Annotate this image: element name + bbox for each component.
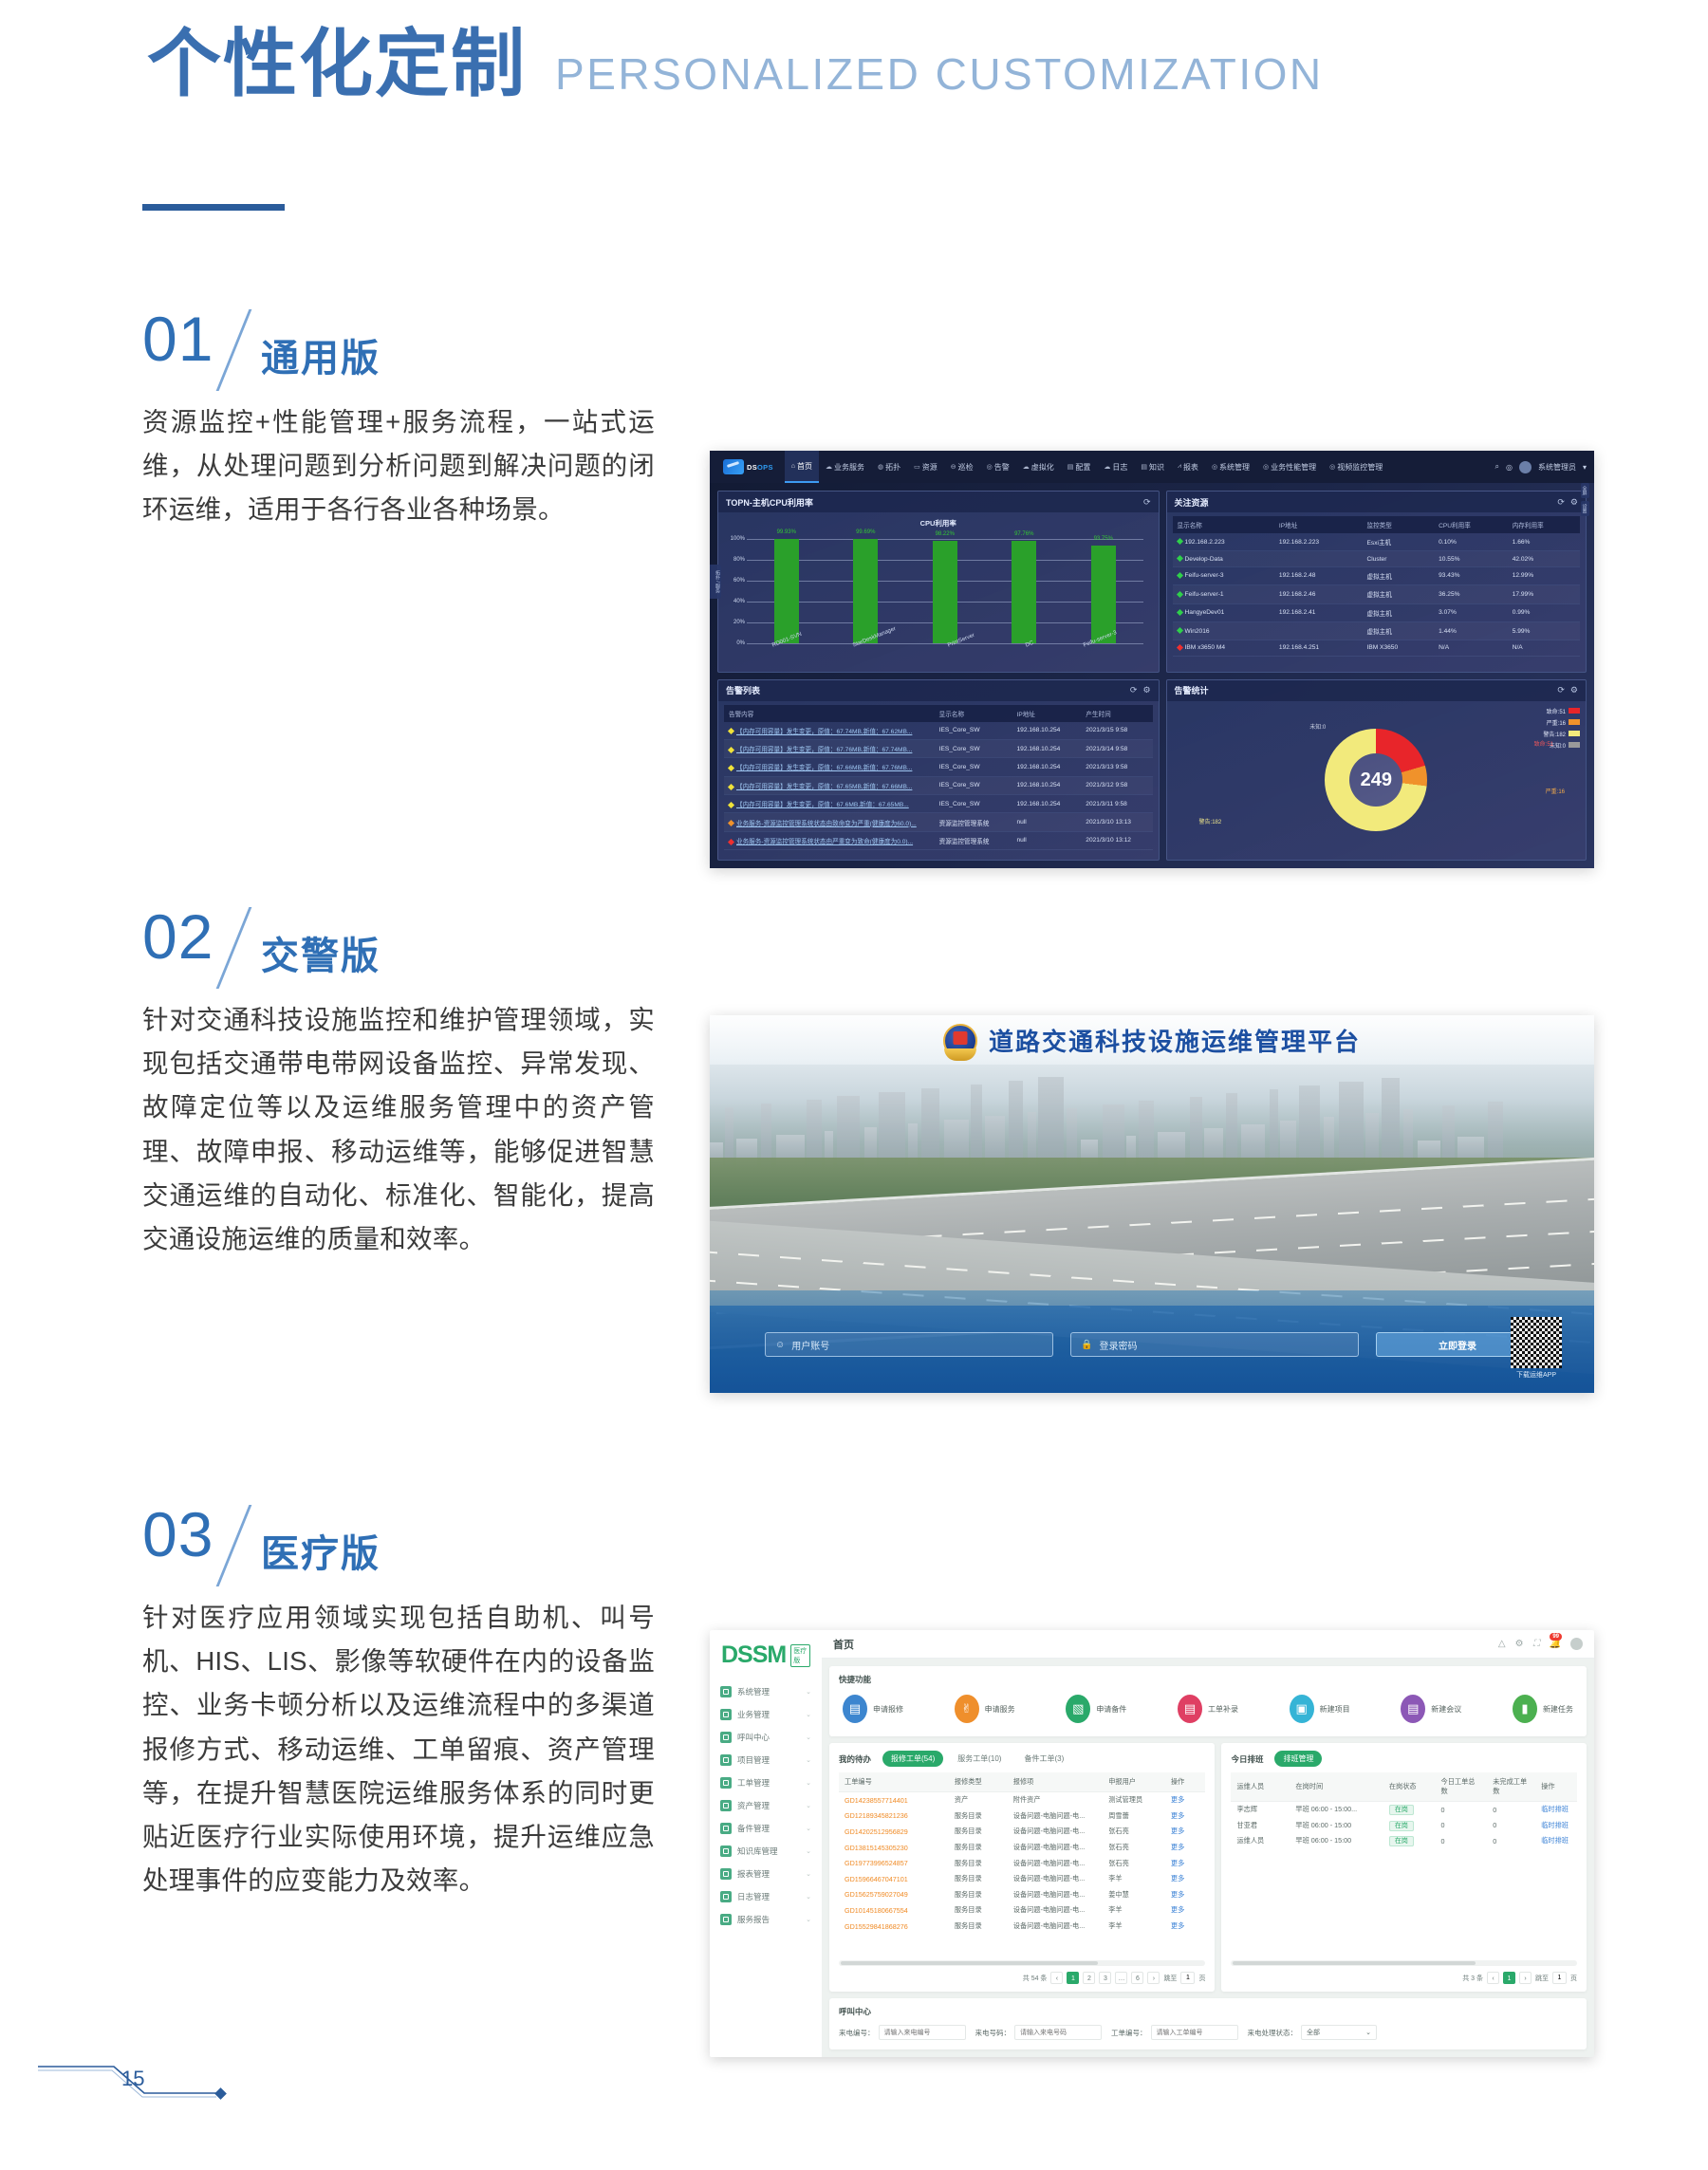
status-dot-icon [1176, 627, 1182, 634]
cell-ip: 192.168.2.223 [1274, 533, 1363, 551]
cell-name: Win2016 [1173, 621, 1274, 640]
table-row[interactable]: 【内存可用容量】发生变更，原值：67.66MB,新值：67.76MB...IES… [724, 758, 1153, 776]
cell-type: 服务目录 [949, 1871, 1008, 1887]
quick-actions-list: ▤申请报修✌申请服务▧申请备件▤工单补录▣新建项目▤新建会议▮新建任务 [839, 1693, 1577, 1729]
ops-right-tools[interactable]: 全屏 设置 [1577, 483, 1592, 516]
new-meeting-icon: ▤ [1401, 1695, 1425, 1723]
sidebar-item-label: 工单管理 [737, 1777, 770, 1789]
table-row[interactable]: IBM x3650 M4192.168.4.251IBM X3650N/AN/A [1173, 640, 1580, 656]
pagination-page-3[interactable]: 3 [1099, 1972, 1111, 1984]
chevron-down-icon: ⌄ [806, 1802, 811, 1809]
shift-table: 运维人员在岗时间在岗状态今日工单总数未完成工单数操作 李志辉早班 06:00 -… [1231, 1772, 1577, 1849]
medical-sidebar: DSSM 医疗版 系统管理⌄业务管理⌄呼叫中心⌄项目管理⌄工单管理⌄资产管理⌄备… [710, 1630, 822, 2057]
column-header: 工单编号 [839, 1772, 949, 1792]
cell-content: 【内存可用容量】发生变更，原值：67.66MB,新值：67.76MB... [724, 758, 935, 776]
cell-undone: 0 [1487, 1802, 1535, 1818]
cell-user: 测试管理员 [1103, 1792, 1165, 1808]
cell-item: 设备问题-电脑问题-电... [1008, 1919, 1103, 1935]
screenshot-medical-dashboard: DSSM 医疗版 系统管理⌄业务管理⌄呼叫中心⌄项目管理⌄工单管理⌄资产管理⌄备… [710, 1630, 1594, 2057]
pagination-page-2[interactable]: 2 [1083, 1972, 1095, 1984]
table-row[interactable]: GD14202512956829服务目录设备问题-电脑问题-电...张石亮更多 [839, 1824, 1205, 1840]
ops-nav-item-12[interactable]: ◎业务性能管理 [1256, 451, 1323, 483]
cell-ip: 192.168.2.48 [1274, 566, 1363, 584]
fullscreen-icon[interactable]: ⛶ [1533, 1639, 1540, 1649]
bar-value-label: 93.75% [1094, 536, 1113, 542]
table-body: 【内存可用容量】发生变更，原值：67.74MB,新值：67.62MB...IES… [724, 722, 1153, 850]
search-icon[interactable]: ⌕ [1495, 462, 1499, 472]
gear-icon[interactable]: ⚙ [1142, 685, 1150, 696]
building [1299, 1085, 1320, 1167]
new-task-icon: ▮ [1513, 1695, 1537, 1723]
status-badge: 在岗 [1389, 1805, 1414, 1815]
table-row[interactable]: GD19773996524857服务目录设备问题-电脑问题-电...张石亮更多 [839, 1855, 1205, 1871]
sidebar-item-10[interactable]: 服务报告⌄ [710, 1908, 822, 1931]
column-header: 申报用户 [1103, 1772, 1165, 1792]
table-body: 李志辉早班 06:00 - 15:00...在岗00临时排班甘亚君早班 06:0… [1231, 1802, 1577, 1849]
cell-action[interactable]: 临时排班 [1535, 1818, 1577, 1834]
table-row[interactable]: GD13815145305230服务目录设备问题-电脑问题-电...张石亮更多 [839, 1840, 1205, 1856]
more-link[interactable]: 更多 [1171, 1874, 1184, 1883]
column-header: 显示名称 [935, 705, 1012, 722]
column-header: IP地址 [1274, 516, 1363, 533]
table-row[interactable]: Feifu-server-3192.168.2.48虚拟主机93.43%12.9… [1173, 566, 1580, 584]
cell-ticket-id: GD15625759027049 [839, 1887, 949, 1903]
cell-cpu: 93.43% [1434, 566, 1508, 584]
sidebar-item-8[interactable]: 报表管理⌄ [710, 1863, 822, 1885]
section-01: 01 通用版 资源监控+性能管理+服务流程，一站式运维，从处理问题到分析问题到解… [142, 313, 655, 532]
cell-action[interactable]: 更多 [1165, 1887, 1206, 1903]
chevron-down-icon: ⌄ [806, 1847, 811, 1855]
cell-cpu: 1.44% [1434, 621, 1508, 640]
cell-type: 服务目录 [949, 1808, 1008, 1825]
cell-user: 李羊 [1103, 1902, 1165, 1919]
todo-tab-2[interactable]: 备件工单(3) [1015, 1751, 1072, 1767]
cell-person: 甘亚君 [1231, 1818, 1290, 1834]
cell-type: 服务目录 [949, 1840, 1008, 1856]
temp-shift-link[interactable]: 临时排班 [1541, 1821, 1569, 1829]
more-link[interactable]: 更多 [1171, 1843, 1184, 1851]
cell-cpu: 10.55% [1434, 551, 1508, 566]
table-header-row: 显示名称IP地址监控类型CPU利用率内存利用率 [1173, 516, 1580, 533]
cell-mem: N/A [1508, 640, 1580, 656]
medical-logo: DSSM 医疗版 [710, 1640, 822, 1680]
cell-type: IBM X3650 [1363, 640, 1435, 656]
cell-time: 2021/3/10 13:12 [1081, 831, 1152, 849]
quick-action-6[interactable]: ▮新建任务 [1513, 1695, 1573, 1723]
filter-1: 来电号码： [975, 2025, 1103, 2040]
column-header: 操作 [1165, 1772, 1206, 1792]
cell-person: 李志辉 [1231, 1802, 1290, 1818]
status-dot-icon [1176, 591, 1182, 598]
medical-layout: DSSM 医疗版 系统管理⌄业务管理⌄呼叫中心⌄项目管理⌄工单管理⌄资产管理⌄备… [710, 1630, 1594, 2057]
cell-item: 设备问题-电脑问题-电... [1008, 1808, 1103, 1825]
slash-divider-icon [216, 907, 252, 989]
cell-undone: 0 [1487, 1818, 1535, 1834]
alarm-donut-chart: 249 [1325, 729, 1427, 831]
qr-download-block[interactable]: 下载运维APP [1511, 1317, 1562, 1380]
bar-value-label: 97.76% [1014, 531, 1033, 537]
table-row[interactable]: 甘亚君早班 06:00 - 15:00在岗00临时排班 [1231, 1818, 1577, 1834]
column-header: 报修类型 [949, 1772, 1008, 1792]
qr-download-label: 下载运维APP [1511, 1370, 1562, 1380]
section-03-number: 03 [142, 1503, 213, 1566]
log-icon: ☁ [1104, 463, 1110, 471]
ops-nav-item-2[interactable]: ◍拓扑 [871, 451, 907, 483]
cell-ip: 192.168.2.46 [1274, 585, 1363, 603]
avatar[interactable] [1519, 461, 1532, 473]
chevron-down-icon[interactable]: ▾ [1583, 463, 1587, 472]
cell-ip: null [1012, 831, 1081, 849]
more-link[interactable]: 更多 [1171, 1890, 1184, 1899]
cell-action[interactable]: 临时排班 [1535, 1833, 1577, 1849]
cell-ip: 192.168.10.254 [1012, 776, 1081, 794]
table-row[interactable]: 业务服务-资源监控管理系统状态由严重变为致命(健康度为0.0)...资源监控管理… [724, 831, 1153, 849]
filter-3: 来电处理状态：全部⌄ [1248, 2025, 1378, 2040]
cell-mem: 5.99% [1508, 621, 1580, 640]
filter-select[interactable]: 全部⌄ [1301, 2025, 1377, 2040]
todo-title: 我的待办 [839, 1753, 871, 1765]
book-icon: ▤ [1141, 463, 1147, 471]
building [879, 1092, 905, 1167]
cell-today: 0 [1436, 1818, 1488, 1834]
column-header: 在岗时间 [1290, 1772, 1383, 1802]
chevron-down-icon: ⌄ [806, 1916, 811, 1923]
cell-action[interactable]: 更多 [1165, 1792, 1206, 1808]
y-tick-label: 20% [726, 620, 745, 625]
cell-type: Cluster [1363, 551, 1435, 566]
cell-mem: 0.99% [1508, 603, 1580, 621]
quick-action-3[interactable]: ▤工单补录 [1178, 1695, 1238, 1723]
todo-tab-0[interactable]: 报修工单(54) [882, 1751, 943, 1767]
pagination-total: 共 54 条 [1023, 1974, 1048, 1983]
call-center-card: 呼叫中心 来电编号：来电号码：工单编号：来电处理状态：全部⌄ [829, 1998, 1587, 2049]
todo-tabs: 我的待办 报修工单(54)服务工单(10)备件工单(3) [839, 1751, 1205, 1767]
quick-action-label: 新建项目 [1320, 1704, 1350, 1715]
table-row[interactable]: 【内存可用容量】发生变更，原值：67.76MB,新值：67.74MB...IES… [724, 739, 1153, 757]
pagination-page-6[interactable]: 6 [1131, 1972, 1143, 1984]
card-res-header: 关注资源 ⟳⚙ [1167, 491, 1586, 512]
sidebar-item-5[interactable]: 资产管理⌄ [710, 1794, 822, 1817]
quick-action-label: 申请备件 [1096, 1704, 1126, 1715]
table-row[interactable]: Develop-DataCluster10.55%42.02% [1173, 551, 1580, 566]
sidebar-item-label: 项目管理 [737, 1754, 770, 1766]
table-row[interactable]: GD12189345821236服务目录设备问题-电脑问题-电...周雪蕾更多 [839, 1808, 1205, 1825]
table-row[interactable]: GD15529841868276服务目录设备问题-电脑问题-电...李羊更多 [839, 1919, 1205, 1935]
ops-nav-label: 告警 [994, 462, 1010, 473]
ops-logo-icon [723, 459, 744, 474]
building [1382, 1078, 1400, 1167]
table-row[interactable]: GD15966467047101服务目录设备问题-电脑问题-电...李羊更多 [839, 1871, 1205, 1887]
cell-item: 设备问题-电脑问题-电... [1008, 1887, 1103, 1903]
bar-2: 98.22% [933, 541, 957, 643]
shift-manage-button[interactable]: 排班管理 [1274, 1751, 1322, 1767]
filter-label: 来电号码： [975, 2028, 1012, 2038]
filter-label: 来电处理状态： [1248, 2028, 1298, 2038]
call-center-title: 呼叫中心 [839, 2006, 1577, 2017]
ops-nav-item-4[interactable]: ⊖巡检 [944, 451, 980, 483]
pagination-next[interactable]: › [1147, 1972, 1160, 1984]
cell-item: 设备问题-电脑问题-电... [1008, 1824, 1103, 1840]
filter-label: 工单编号： [1111, 2028, 1147, 2038]
more-link[interactable]: 更多 [1171, 1905, 1184, 1914]
cell-action[interactable]: 更多 [1165, 1902, 1206, 1919]
table-row[interactable]: 【内存可用容量】发生变更，原值：67.6MB,新值：67.65MB...IES_… [724, 795, 1153, 813]
briefcase-icon [720, 1709, 732, 1720]
refresh-icon[interactable]: ⟳ [1130, 685, 1138, 696]
watched-resources-table: 显示名称IP地址监控类型CPU利用率内存利用率 192.168.2.223192… [1173, 516, 1580, 657]
sidebar-item-label: 知识库管理 [737, 1845, 778, 1857]
ops-nav-item-11[interactable]: ◎系统管理 [1205, 451, 1256, 483]
todo-tab-1[interactable]: 服务工单(10) [949, 1751, 1010, 1767]
cell-action[interactable]: 临时排班 [1535, 1802, 1577, 1818]
sidebar-item-label: 日志管理 [737, 1891, 770, 1902]
ops-nav-label: 日志 [1112, 462, 1127, 473]
username-placeholder: 用户账号 [791, 1338, 829, 1352]
donut-label-fatal: 致命:51 [1534, 739, 1553, 748]
pagination-jump-input[interactable] [1552, 1972, 1567, 1984]
sidebar-item-4[interactable]: 工单管理⌄ [710, 1771, 822, 1794]
table-row[interactable]: Win2016虚拟主机1.44%5.99% [1173, 621, 1580, 640]
pagination-next[interactable]: › [1519, 1972, 1532, 1984]
cell-content: 业务服务-资源监控管理系统状态由致命变为严重(健康度为60.0)... [724, 813, 935, 831]
gear-icon[interactable]: ⚙ [1515, 1639, 1524, 1649]
document-icon [720, 1914, 732, 1925]
medical-sidebar-items: 系统管理⌄业务管理⌄呼叫中心⌄项目管理⌄工单管理⌄资产管理⌄备件管理⌄知识库管理… [710, 1680, 822, 1931]
card-cpu-title: TOPN-主机CPU利用率 [726, 496, 813, 509]
pagination-total: 共 3 条 [1462, 1974, 1483, 1983]
sidebar-item-3[interactable]: 项目管理⌄ [710, 1749, 822, 1771]
refresh-icon[interactable]: ⟳ [1143, 497, 1151, 508]
table-row[interactable]: 业务服务-资源监控管理系统状态由致命变为严重(健康度为60.0)...资源监控管… [724, 813, 1153, 831]
table-row[interactable]: GD15625759027049服务目录设备问题-电脑问题-电...姜中慧更多 [839, 1887, 1205, 1903]
log-icon [720, 1891, 732, 1902]
cell-type: Esxi主机 [1363, 533, 1435, 551]
pagination-page-…[interactable]: … [1115, 1972, 1127, 1984]
table-row[interactable]: Feifu-server-1192.168.2.46虚拟主机36.25%17.9… [1173, 585, 1580, 603]
cell-ip: 192.168.10.254 [1012, 739, 1081, 757]
cell-user: 张石亮 [1103, 1824, 1165, 1840]
filter-input[interactable] [879, 2025, 966, 2040]
quick-action-1[interactable]: ✌申请服务 [955, 1695, 1015, 1723]
table-row[interactable]: GD14238557714401资产附件资产测试管理员更多 [839, 1792, 1205, 1808]
sidebar-item-1[interactable]: 业务管理⌄ [710, 1703, 822, 1726]
ops-logo-text: DSOPS [747, 463, 773, 472]
cell-mem: 12.99% [1508, 566, 1580, 584]
cell-action[interactable]: 更多 [1165, 1808, 1206, 1825]
more-link[interactable]: 更多 [1171, 1921, 1184, 1930]
more-link[interactable]: 更多 [1171, 1859, 1184, 1867]
more-link[interactable]: 更多 [1171, 1811, 1184, 1820]
building [1270, 1089, 1278, 1167]
ops-body: TOPN-主机CPU利用率 ⟳ CPU利用率 100%80%60%40%20%0… [710, 483, 1594, 868]
ops-nav-items: ⌂首页☁业务服务◍拓扑▭资源⊖巡检◎告警☁虚拟化▤配置☁日志▤知识⩘报表◎系统管… [785, 451, 1389, 483]
quick-actions-card: 快捷功能 ▤申请报修✌申请服务▧申请备件▤工单补录▣新建项目▤新建会议▮新建任务 [829, 1666, 1587, 1736]
sidebar-item-6[interactable]: 备件管理⌄ [710, 1817, 822, 1840]
sidebar-item-2[interactable]: 呼叫中心⌄ [710, 1726, 822, 1749]
quick-action-4[interactable]: ▣新建项目 [1290, 1695, 1350, 1723]
cell-ticket-id: GD10145180667554 [839, 1902, 949, 1919]
cell-type: 服务目录 [949, 1902, 1008, 1919]
cell-type: 资产 [949, 1792, 1008, 1808]
cell-ip: 192.168.10.254 [1012, 795, 1081, 813]
ops-nav-item-0[interactable]: ⌂首页 [785, 451, 819, 483]
quick-action-label: 申请报修 [873, 1704, 903, 1715]
ops-nav-label: 业务性能管理 [1271, 462, 1316, 473]
bell-badge: 99 [1550, 1633, 1562, 1641]
ops-nav-item-13[interactable]: ◎视频监控管理 [1323, 451, 1389, 483]
cell-action[interactable]: 更多 [1165, 1824, 1206, 1840]
password-placeholder: 登录密码 [1099, 1338, 1137, 1352]
refresh-icon[interactable]: ⟳ [1557, 497, 1565, 508]
chart-cpu-bars: 99.93%99.69%98.22%97.76%93.75% [747, 539, 1143, 643]
cell-type: 虚拟主机 [1363, 603, 1435, 621]
quick-action-2[interactable]: ▧申请备件 [1066, 1695, 1126, 1723]
ops-nav-item-1[interactable]: ☁业务服务 [819, 451, 871, 483]
medical-mid-row: 我的待办 报修工单(54)服务工单(10)备件工单(3) 工单编号报修类型报修项… [829, 1743, 1587, 1992]
password-field[interactable]: 🔒 登录密码 [1070, 1332, 1359, 1357]
ops-nav-item-9[interactable]: ▤知识 [1134, 451, 1171, 483]
cell-name: Feifu-server-1 [1173, 585, 1274, 603]
cell-action[interactable]: 更多 [1165, 1840, 1206, 1856]
cell-item: 设备问题-电脑问题-电... [1008, 1902, 1103, 1919]
filter-input[interactable] [1014, 2025, 1102, 2040]
topology-icon: ◍ [878, 463, 883, 471]
cell-state: 在岗 [1383, 1818, 1436, 1834]
cell-ip [1274, 621, 1363, 640]
ops-nav-label: 业务服务 [834, 462, 864, 473]
status-dot-icon [728, 747, 734, 753]
service-icon: ☁ [826, 463, 832, 471]
filter-input[interactable] [1151, 2025, 1238, 2040]
ops-nav-item-7[interactable]: ▤配置 [1061, 451, 1098, 483]
ops-nav-label: 系统管理 [1219, 462, 1250, 473]
table-row[interactable]: 运维人员早班 06:00 - 15:00在岗00临时排班 [1231, 1833, 1577, 1849]
table-row[interactable]: 【内存可用容量】发生变更，原值：67.65MB,新值：67.66MB...IES… [724, 776, 1153, 794]
cell-time: 2021/3/15 9:58 [1081, 722, 1152, 740]
ops-nav-item-10[interactable]: ⩘报表 [1171, 451, 1205, 483]
pagination-jump-input[interactable] [1180, 1972, 1195, 1984]
table-row[interactable]: GD10145180667554服务目录设备问题-电脑问题-电...李羊更多 [839, 1902, 1205, 1919]
shift-title: 今日排班 [1231, 1753, 1263, 1765]
horizontal-scrollbar[interactable] [1231, 1960, 1577, 1966]
sidebar-item-0[interactable]: 系统管理⌄ [710, 1680, 822, 1703]
pagination-prev[interactable]: ‹ [1050, 1972, 1063, 1984]
table-row[interactable]: 192.168.2.223192.168.2.223Esxi主机0.10%1.6… [1173, 533, 1580, 551]
cell-action[interactable]: 更多 [1165, 1919, 1206, 1935]
ops-nav-item-6[interactable]: ☁虚拟化 [1016, 451, 1061, 483]
table-row[interactable]: 李志辉早班 06:00 - 15:00...在岗00临时排班 [1231, 1802, 1577, 1818]
new-project-icon: ▣ [1290, 1695, 1314, 1723]
cell-ticket-id: GD19773996524857 [839, 1855, 949, 1871]
donut-center-total: 249 [1325, 729, 1427, 831]
ops-nav-item-3[interactable]: ▭资源 [907, 451, 944, 483]
cell-ip: 192.168.4.251 [1274, 640, 1363, 656]
monitor-icon: ▭ [914, 463, 920, 471]
horizontal-scrollbar[interactable] [839, 1960, 1205, 1966]
more-link[interactable]: 更多 [1171, 1795, 1184, 1804]
ops-nav-item-8[interactable]: ☁日志 [1097, 451, 1134, 483]
column-header: 报修项 [1008, 1772, 1103, 1792]
chart-cpu-xlabels: RD001-SVNStarDeskManagerPrintServerDCFei… [747, 643, 1143, 664]
gear-icon[interactable]: ⚙ [1570, 685, 1578, 696]
ops-tool-fullscreen[interactable]: 全屏 [1581, 483, 1589, 498]
bar-value-label: 99.93% [777, 529, 796, 535]
pagination-prev[interactable]: ‹ [1487, 1972, 1499, 1984]
y-tick-label: 40% [726, 599, 745, 604]
cell-cpu: 3.07% [1434, 603, 1508, 621]
chevron-down-icon: ⌄ [806, 1825, 811, 1832]
pagination-page-1[interactable]: 1 [1067, 1972, 1079, 1984]
table-row[interactable]: 【内存可用容量】发生变更，原值：67.74MB,新值：67.62MB...IES… [724, 722, 1153, 740]
ticket-entry-icon: ▤ [1178, 1695, 1202, 1723]
avatar[interactable] [1570, 1638, 1583, 1650]
filter-label: 来电编号： [839, 2028, 875, 2038]
medical-main: 首页 △ ⚙ ⛶ 🔔 99 快捷功能 ▤申请报修✌申请服务▧申请备件▤工单补录▣… [822, 1630, 1594, 2057]
cell-name: HangyeDev01 [1173, 603, 1274, 621]
card-cpu-topn: TOPN-主机CPU利用率 ⟳ CPU利用率 100%80%60%40%20%0… [717, 491, 1160, 673]
more-link[interactable]: 更多 [1171, 1827, 1184, 1835]
table-row[interactable]: HangyeDev01192.168.2.41虚拟主机3.07%0.99% [1173, 603, 1580, 621]
config-icon: ▤ [1067, 463, 1074, 471]
traffic-platform-title: 道路交通科技设施运维管理平台 [989, 1023, 1361, 1058]
username-field[interactable]: ☺ 用户账号 [765, 1332, 1053, 1357]
section-02-head: 02 交警版 [142, 911, 655, 998]
project-icon [720, 1754, 732, 1766]
quick-action-0[interactable]: ▤申请报修 [843, 1695, 903, 1723]
chevron-down-icon: ⌄ [806, 1756, 811, 1764]
page-title: 首页 [833, 1637, 854, 1652]
pagination-page-1[interactable]: 1 [1503, 1972, 1515, 1984]
card-stat-content: 致命:51严重:16警告:182未知:0 249 未知:0 致命:51 严重:1… [1167, 701, 1586, 861]
ops-row-bottom: 告警列表 ⟳⚙ 告警内容显示名称IP地址产生时间 【内存可用容量】发生变更，原值… [717, 679, 1587, 862]
service-request-icon: ✌ [955, 1695, 979, 1723]
sidebar-item-9[interactable]: 日志管理⌄ [710, 1885, 822, 1908]
temp-shift-link[interactable]: 临时排班 [1541, 1836, 1569, 1845]
alarm-icon: ◎ [987, 463, 993, 471]
cell-time: 2021/3/13 9:58 [1081, 758, 1152, 776]
ops-nav-label: 知识 [1149, 462, 1164, 473]
card-res-title: 关注资源 [1175, 496, 1209, 509]
temp-shift-link[interactable]: 临时排班 [1541, 1805, 1569, 1813]
ops-nav-item-5[interactable]: ◎告警 [980, 451, 1016, 483]
cell-item: 附件资产 [1008, 1792, 1103, 1808]
cell-name: IES_Core_SW [935, 758, 1012, 776]
quick-action-5[interactable]: ▤新建会议 [1401, 1695, 1461, 1723]
cell-today: 0 [1436, 1833, 1488, 1849]
ops-username[interactable]: 系统管理员 [1538, 462, 1576, 473]
cell-action[interactable]: 更多 [1165, 1855, 1206, 1871]
theme-icon[interactable]: △ [1498, 1639, 1506, 1649]
chart-cpu-plot: 100%80%60%40%20%0% 99.93%99.69%98.22%97.… [726, 531, 1147, 664]
cell-name: Develop-Data [1173, 551, 1274, 566]
ops-nav-label: 拓扑 [885, 462, 900, 473]
cell-name: 192.168.2.223 [1173, 533, 1274, 551]
cell-mem: 42.02% [1508, 551, 1580, 566]
cell-ip [1274, 551, 1363, 566]
card-cpu-header: TOPN-主机CPU利用率 ⟳ [718, 491, 1159, 512]
cell-type: 服务目录 [949, 1824, 1008, 1840]
column-header: 显示名称 [1173, 516, 1274, 533]
refresh-icon[interactable]: ⟳ [1557, 685, 1565, 696]
cell-action[interactable]: 更多 [1165, 1871, 1206, 1887]
page-number: 15 [121, 2067, 144, 2091]
screenshot-ops-dashboard: DSOPS ⌂首页☁业务服务◍拓扑▭资源⊖巡检◎告警☁虚拟化▤配置☁日志▤知识⩘… [710, 451, 1594, 868]
section-03-body: 针对医疗应用领域实现包括自助机、叫号机、HIS、LIS、影像等软硬件在内的设备监… [142, 1596, 655, 1902]
sidebar-item-7[interactable]: 知识库管理⌄ [710, 1840, 822, 1863]
cell-type: 虚拟主机 [1363, 621, 1435, 640]
column-header: 监控类型 [1363, 516, 1435, 533]
help-icon[interactable]: ◎ [1506, 463, 1513, 472]
